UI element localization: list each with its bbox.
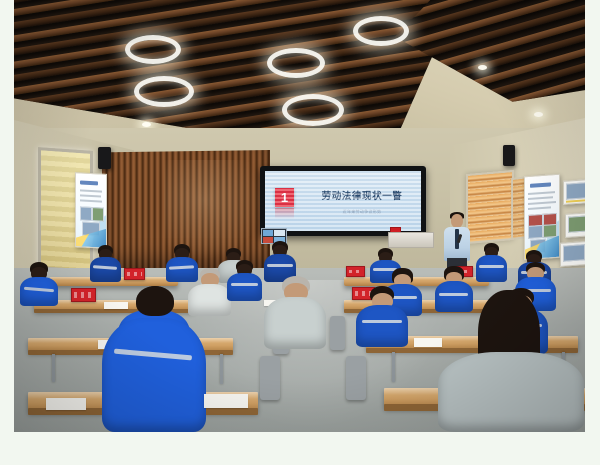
desk-leg-3: [392, 352, 395, 382]
chair-back-6: [346, 356, 366, 400]
presenter-head: [451, 214, 463, 228]
downlight-3: [478, 65, 487, 70]
ring-light-5: [353, 16, 409, 46]
left-wall-poster: [75, 172, 107, 249]
chair-back-2: [330, 316, 345, 350]
chair-back-5: [260, 356, 280, 400]
slide-subtitle: 近年来劳动争议形势: [309, 209, 415, 215]
right-wall-photo-1: [563, 179, 585, 205]
desk-paper-5: [204, 394, 248, 408]
slide-number-badge: 1: [275, 188, 294, 207]
name-placard-2: [346, 266, 365, 277]
projection-screen[interactable]: 1 劳动法律现状一瞥 近年来劳动争议形势: [260, 166, 426, 236]
right-wall-photo-3: [560, 241, 585, 267]
slide-title: 劳动法律现状一瞥: [309, 188, 415, 202]
right-wall-main-poster: [524, 174, 560, 261]
ring-light-2: [267, 48, 325, 78]
ring-light-3: [134, 76, 194, 107]
ring-light-4: [282, 94, 344, 126]
wall-speaker-right: [503, 145, 515, 166]
desk-leg-1: [52, 354, 55, 382]
right-window-blinds: [466, 170, 514, 244]
desk-paper-6: [46, 398, 86, 410]
wall-speaker-left: [98, 147, 111, 169]
name-placard-1: [124, 268, 145, 280]
downlight-4: [534, 112, 543, 117]
classroom-photo: 1 劳动法律现状一瞥 近年来劳动争议形势: [14, 0, 585, 432]
projection-screen-surface: 1 劳动法律现状一瞥 近年来劳动争议形势: [265, 171, 421, 231]
ring-light-1: [125, 35, 181, 64]
desk-leg-2: [220, 354, 223, 384]
page-root: 1 劳动法律现状一瞥 近年来劳动争议形势: [0, 0, 600, 465]
slide-badge-reflection: [275, 208, 294, 219]
podium-desk: [388, 232, 434, 248]
downlight-1: [142, 122, 151, 127]
name-placard-4: [71, 288, 96, 302]
desk-paper-1: [104, 302, 128, 309]
right-wall-photo-2: [565, 212, 585, 238]
desk-paper-4: [414, 338, 442, 347]
